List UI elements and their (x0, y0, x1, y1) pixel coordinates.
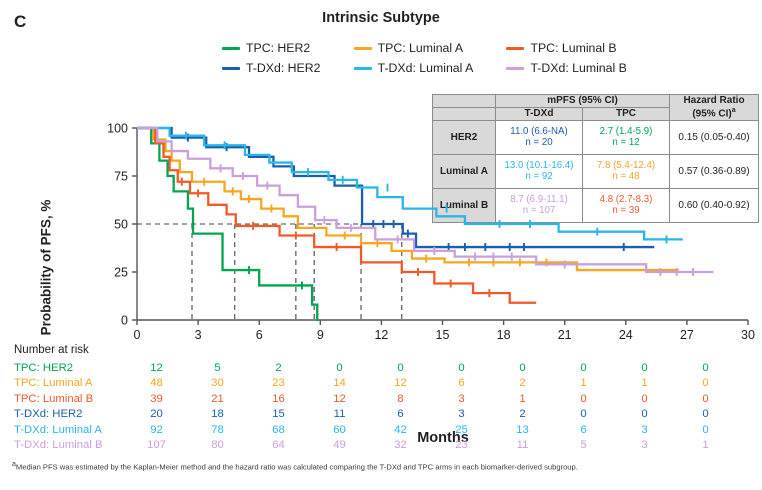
number-at-risk-value: 3 (614, 424, 675, 436)
legend-line-icon (222, 47, 240, 50)
number-at-risk-value: 1 (675, 439, 736, 451)
km-curve (137, 128, 679, 270)
number-at-risk-value: 0 (431, 362, 492, 374)
x-tick-label: 24 (619, 328, 633, 342)
y-tick-label: 75 (114, 170, 128, 184)
legend-item: TPC: HER2 (222, 41, 336, 55)
number-at-risk-row: T-DXd: Luminal A927868604225136300 (14, 422, 762, 438)
number-at-risk-value: 0 (675, 408, 736, 420)
x-tick-label: 9 (317, 328, 324, 342)
x-tick-label: 21 (558, 328, 572, 342)
chart-legend: TPC: HER2TPC: Luminal ATPC: Luminal BT-D… (222, 38, 642, 78)
x-tick-label: 0 (134, 328, 141, 342)
legend-item: T-DXd: Luminal A (354, 61, 489, 75)
x-tick-label: 6 (256, 328, 263, 342)
legend-item-label: TPC: Luminal B (530, 41, 616, 55)
legend-item-label: T-DXd: Luminal B (530, 61, 626, 75)
number-at-risk-value: 0 (553, 393, 614, 405)
number-at-risk-value: 39 (126, 393, 187, 405)
number-at-risk-value: 30 (187, 377, 248, 389)
number-at-risk-value: 0 (736, 408, 762, 420)
number-at-risk-value: 0 (553, 408, 614, 420)
legend-line-icon (222, 67, 240, 70)
number-at-risk-value: 3 (431, 393, 492, 405)
chart-title: Intrinsic Subtype (0, 10, 762, 26)
number-at-risk-value: 0 (736, 377, 762, 389)
number-at-risk-value: 11 (492, 439, 553, 451)
number-at-risk-value: 2 (492, 408, 553, 420)
number-at-risk-value: 14 (309, 377, 370, 389)
number-at-risk-value: 107 (126, 439, 187, 451)
footnote-text: Median PFS was estimated by the Kaplan-M… (16, 463, 578, 472)
number-at-risk-label: T-DXd: Luminal A (14, 424, 126, 436)
legend-item-label: TPC: Luminal A (378, 41, 463, 55)
number-at-risk-value: 5 (187, 362, 248, 374)
number-at-risk-value: 0 (736, 439, 762, 451)
number-at-risk-value: 12 (309, 393, 370, 405)
number-at-risk-value: 92 (126, 424, 187, 436)
number-at-risk-title: Number at risk (14, 344, 89, 356)
number-at-risk-value: 0 (309, 362, 370, 374)
number-at-risk-label: T-DXd: HER2 (14, 408, 126, 420)
x-tick-label: 12 (374, 328, 388, 342)
number-at-risk-label: TPC: Luminal A (14, 377, 126, 389)
x-tick-label: 18 (497, 328, 511, 342)
number-at-risk-value: 23 (431, 439, 492, 451)
number-at-risk-value: 6 (553, 424, 614, 436)
number-at-risk-value: 5 (553, 439, 614, 451)
number-at-risk-value: 0 (675, 362, 736, 374)
number-at-risk-value: 11 (309, 408, 370, 420)
number-at-risk-value: 8 (370, 393, 431, 405)
legend-line-icon (354, 67, 372, 70)
number-at-risk-row: TPC: Luminal A4830231412621100 (14, 376, 762, 392)
legend-item: T-DXd: Luminal B (506, 61, 642, 75)
number-at-risk-label: T-DXd: Luminal B (14, 439, 126, 451)
number-at-risk-value: 0 (614, 408, 675, 420)
number-at-risk-value: 42 (370, 424, 431, 436)
number-at-risk-value: 12 (126, 362, 187, 374)
km-chart: Probability of PFS, % 025507510003691215… (0, 90, 762, 365)
number-at-risk-value: 0 (736, 362, 762, 374)
footnote: aMedian PFS was estimated by the Kaplan-… (12, 461, 578, 472)
legend-line-icon (506, 67, 524, 70)
number-at-risk-value: 15 (248, 408, 309, 420)
number-at-risk-value: 0 (675, 424, 736, 436)
number-at-risk-value: 1 (492, 393, 553, 405)
legend-line-icon (354, 47, 372, 50)
number-at-risk-value: 60 (309, 424, 370, 436)
km-curve (137, 128, 683, 239)
x-tick-label: 27 (680, 328, 694, 342)
number-at-risk-table: TPC: HER2125200000000TPC: Luminal A48302… (14, 360, 762, 453)
number-at-risk-label: TPC: HER2 (14, 362, 126, 374)
y-tick-label: 25 (114, 266, 128, 280)
number-at-risk-value: 32 (370, 439, 431, 451)
number-at-risk-value: 2 (492, 377, 553, 389)
number-at-risk-value: 3 (614, 439, 675, 451)
number-at-risk-value: 1 (553, 377, 614, 389)
number-at-risk-value: 25 (431, 424, 492, 436)
number-at-risk-value: 0 (614, 393, 675, 405)
number-at-risk-row: TPC: Luminal B392116128310000 (14, 391, 762, 407)
number-at-risk-value: 0 (370, 362, 431, 374)
number-at-risk-value: 0 (675, 393, 736, 405)
number-at-risk-value: 6 (431, 377, 492, 389)
number-at-risk-value: 0 (675, 377, 736, 389)
number-at-risk-value: 12 (370, 377, 431, 389)
legend-item-label: T-DXd: Luminal A (378, 61, 474, 75)
number-at-risk-value: 80 (187, 439, 248, 451)
number-at-risk-value: 48 (126, 377, 187, 389)
km-plot-svg: 0255075100036912151821242730 (0, 90, 762, 365)
number-at-risk-value: 21 (187, 393, 248, 405)
number-at-risk-label: TPC: Luminal B (14, 393, 126, 405)
number-at-risk-value: 18 (187, 408, 248, 420)
x-tick-label: 3 (195, 328, 202, 342)
number-at-risk-value: 0 (736, 393, 762, 405)
legend-line-icon (506, 47, 524, 50)
number-at-risk-value: 0 (736, 424, 762, 436)
number-at-risk-value: 23 (248, 377, 309, 389)
number-at-risk-value: 64 (248, 439, 309, 451)
number-at-risk-value: 49 (309, 439, 370, 451)
legend-item: T-DXd: HER2 (222, 61, 336, 75)
number-at-risk-value: 2 (248, 362, 309, 374)
number-at-risk-value: 68 (248, 424, 309, 436)
number-at-risk-value: 78 (187, 424, 248, 436)
number-at-risk-value: 6 (370, 408, 431, 420)
km-curve (137, 128, 536, 303)
number-at-risk-row: TPC: HER2125200000000 (14, 360, 762, 376)
number-at-risk-value: 0 (614, 362, 675, 374)
legend-item-label: T-DXd: HER2 (246, 61, 320, 75)
number-at-risk-value: 0 (492, 362, 553, 374)
y-axis-label: Probability of PFS, % (39, 188, 54, 348)
y-tick-label: 100 (107, 122, 128, 136)
x-tick-label: 15 (436, 328, 450, 342)
number-at-risk-value: 20 (126, 408, 187, 420)
legend-item-label: TPC: HER2 (246, 41, 310, 55)
legend-item: TPC: Luminal A (354, 41, 489, 55)
y-tick-label: 0 (121, 314, 128, 328)
number-at-risk-value: 0 (553, 362, 614, 374)
x-tick-label: 30 (741, 328, 755, 342)
number-at-risk-value: 13 (492, 424, 553, 436)
legend-item: TPC: Luminal B (506, 41, 642, 55)
number-at-risk-value: 1 (614, 377, 675, 389)
number-at-risk-row: T-DXd: HER2201815116320000 (14, 407, 762, 423)
number-at-risk-row: T-DXd: Luminal B1078064493223115310 (14, 438, 762, 454)
y-tick-label: 50 (114, 218, 128, 232)
number-at-risk-value: 3 (431, 408, 492, 420)
number-at-risk-value: 16 (248, 393, 309, 405)
